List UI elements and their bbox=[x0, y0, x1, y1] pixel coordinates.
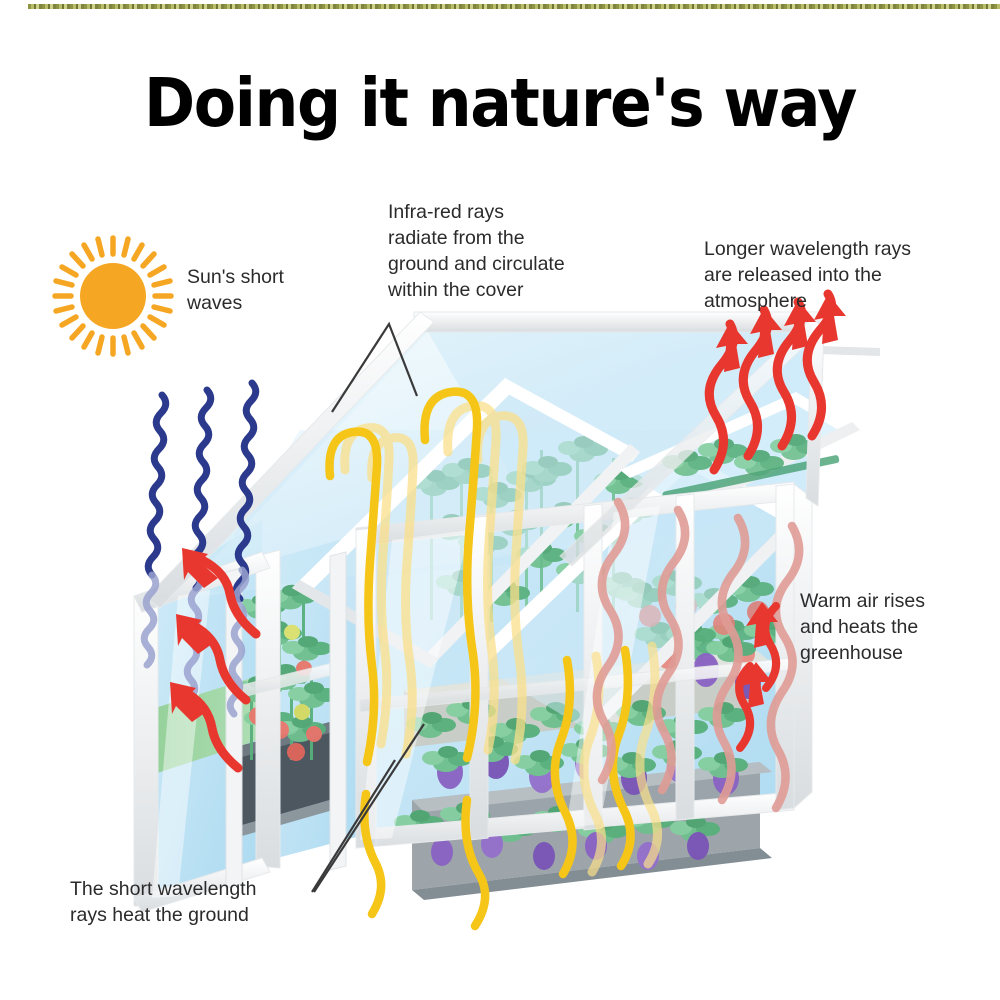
label-sun-short-waves: Sun's short waves bbox=[187, 265, 337, 317]
label-warm-air-rises: Warm air rises and heats the greenhouse bbox=[800, 589, 970, 667]
label-infrared-rays: Infra-red rays radiate from the ground a… bbox=[388, 200, 603, 304]
sun-icon bbox=[55, 238, 171, 354]
greenhouse-diagram bbox=[0, 0, 1000, 1000]
label-longer-wavelength: Longer wavelength rays are released into… bbox=[704, 237, 934, 315]
label-ground-heating: The short wavelength rays heat the groun… bbox=[70, 877, 310, 929]
infographic-canvas: Doing it nature's way bbox=[0, 0, 1000, 1000]
